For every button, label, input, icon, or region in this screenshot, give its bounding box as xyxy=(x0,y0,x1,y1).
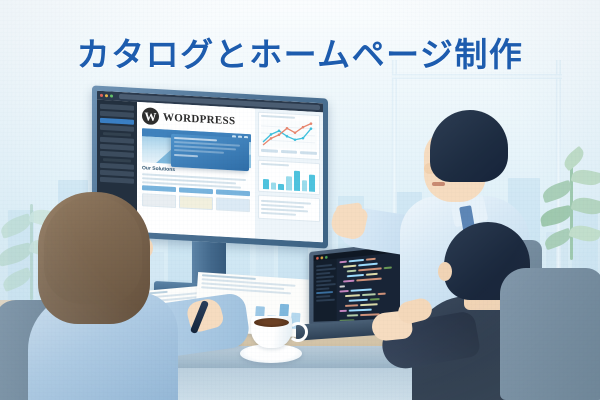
panel-title-line xyxy=(261,163,289,167)
cta-button[interactable] xyxy=(216,189,250,196)
sidebar-subitem[interactable] xyxy=(103,158,131,163)
feature-card-row xyxy=(142,193,250,212)
bar xyxy=(294,170,300,191)
sidebar-item-posts[interactable] xyxy=(100,111,134,118)
maximize-icon[interactable] xyxy=(110,94,113,97)
office-chair xyxy=(500,268,600,400)
cta-button[interactable] xyxy=(142,185,176,192)
chart-legend-row xyxy=(261,149,317,155)
cta-button[interactable] xyxy=(179,187,213,194)
man-gesturing-hair xyxy=(430,110,508,182)
sidebar-item-dashboard[interactable] xyxy=(100,104,134,111)
sidebar-item-appearance[interactable] xyxy=(100,144,134,151)
bar xyxy=(302,180,308,191)
legend-chip xyxy=(300,151,317,155)
bar-chart xyxy=(261,167,317,192)
line-chart xyxy=(261,119,317,150)
illustration-scene: カタログとホームページ制作 xyxy=(0,0,600,400)
bar xyxy=(271,183,277,190)
bar xyxy=(286,177,292,191)
sidebar-item-plugins[interactable] xyxy=(100,151,134,158)
bar xyxy=(278,184,284,190)
line-chart-svg xyxy=(261,119,315,150)
minimize-icon[interactable] xyxy=(105,94,108,97)
bar xyxy=(309,174,315,191)
sidebar-subitem[interactable] xyxy=(103,132,131,137)
notification-popup-card[interactable] xyxy=(171,134,249,171)
man-typing-ear xyxy=(438,262,452,281)
feature-card[interactable] xyxy=(179,195,213,210)
sidebar-item-comments[interactable] xyxy=(100,137,134,144)
feature-card[interactable] xyxy=(216,197,250,212)
line-chart-panel xyxy=(258,112,320,160)
wp-admin-content: W WORDPRESS xyxy=(137,102,255,239)
legend-chip xyxy=(281,150,298,154)
minimize-icon[interactable] xyxy=(321,256,324,259)
file-explorer[interactable] xyxy=(314,259,337,322)
wordpress-mark-icon: W xyxy=(142,107,159,125)
page-title: カタログとホームページ制作 xyxy=(0,28,600,76)
close-icon[interactable] xyxy=(316,256,319,259)
wordpress-wordmark: WORDPRESS xyxy=(163,111,235,127)
potted-plant xyxy=(540,150,600,270)
sidebar-item-users[interactable] xyxy=(100,163,134,170)
maximize-icon[interactable] xyxy=(325,255,328,258)
close-icon[interactable] xyxy=(100,94,103,97)
sidebar-item-media[interactable] xyxy=(100,118,134,125)
bar xyxy=(263,179,269,189)
sidebar-item-settings[interactable] xyxy=(100,177,134,184)
woman-hair-highlight xyxy=(44,196,142,304)
bar-chart-panel xyxy=(258,160,320,195)
text-list-panel xyxy=(258,195,320,222)
wp-analytics-column xyxy=(255,109,323,243)
sidebar-item-tools[interactable] xyxy=(100,170,134,177)
legend-chip xyxy=(261,149,278,153)
sidebar-item-pages[interactable] xyxy=(100,125,134,132)
man-mouth xyxy=(432,182,445,186)
feature-card[interactable] xyxy=(142,193,176,208)
coffee-liquid xyxy=(254,318,289,327)
list-line xyxy=(261,212,296,216)
